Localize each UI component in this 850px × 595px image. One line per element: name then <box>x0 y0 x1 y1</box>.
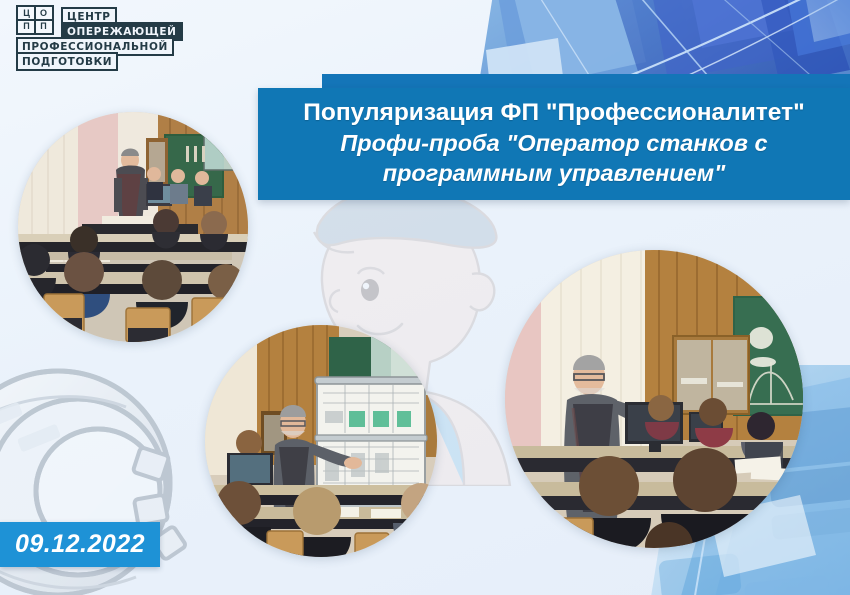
title-line-3: программным управлением" <box>383 158 726 188</box>
logo-line-4: ПОДГОТОВКИ <box>16 52 118 71</box>
organization-logo: Ц О П П ЦЕНТР ОПЕРЕЖАЮЩЕЙ ПРОФЕССИОНАЛЬН… <box>16 5 196 67</box>
title-line-2: Профи-проба "Оператор станков с <box>340 128 767 158</box>
logo-mark-icon: Ц О П П <box>16 5 54 35</box>
date-badge: 09.12.2022 <box>0 522 160 567</box>
logo-mark-cell-tl: Ц <box>20 8 33 18</box>
title-banner: Популяризация ФП "Профессионалитет" Проф… <box>258 88 850 200</box>
logo-mark-cell-br: П <box>37 21 50 31</box>
logo-mark-cell-tr: О <box>37 8 50 18</box>
logo-mark-cell-bl: П <box>20 21 33 31</box>
classroom-lecture-photo <box>18 112 248 342</box>
whiteboard-presentation-photo <box>205 325 437 557</box>
date-badge-label: 09.12.2022 <box>15 530 145 559</box>
computer-lab-photo <box>505 250 803 548</box>
poster-canvas: Ц О П П ЦЕНТР ОПЕРЕЖАЮЩЕЙ ПРОФЕССИОНАЛЬН… <box>0 0 850 595</box>
title-line-1: Популяризация ФП "Профессионалитет" <box>303 98 804 128</box>
